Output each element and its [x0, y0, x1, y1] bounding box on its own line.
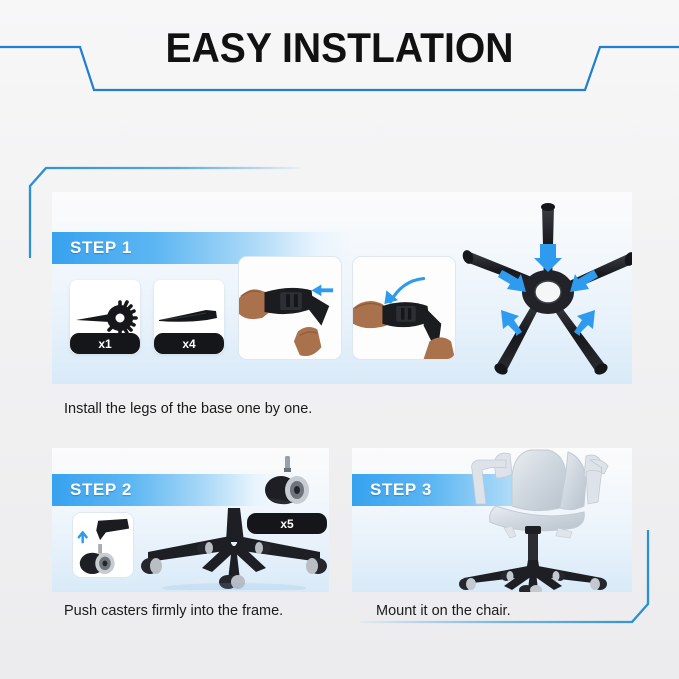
- step-card-2: STEP 2 x5: [52, 448, 329, 592]
- page-header: EASY INSTLATION: [0, 0, 679, 110]
- step-badge-label: STEP 2: [52, 480, 132, 500]
- step-badge-label: STEP 3: [352, 480, 432, 500]
- step-card-1: STEP 1 x1 x4: [52, 192, 632, 384]
- step-caption-1: Install the legs of the base one by one.: [64, 401, 312, 417]
- hand-insert-leg-image: [239, 257, 341, 359]
- hand-rotate-leg-image: [353, 257, 455, 359]
- step-caption-2: Push casters firmly into the frame.: [64, 603, 283, 619]
- five-star-base-illustration: [462, 200, 632, 378]
- step-badge-2: STEP 2: [52, 474, 282, 506]
- step-badge-label: STEP 1: [52, 238, 132, 258]
- part-count-badge: x4: [154, 333, 224, 354]
- page-title: EASY INSTLATION: [24, 24, 655, 72]
- hand-insert-leg-photo[interactable]: [238, 256, 342, 360]
- base-with-casters-illustration: [140, 506, 328, 590]
- step-card-3: STEP 3: [352, 448, 632, 592]
- part-count-badge: x1: [70, 333, 140, 354]
- hand-rotate-leg-photo[interactable]: [352, 256, 456, 360]
- caster-insert-inset[interactable]: [72, 512, 134, 578]
- part-box-base-hub[interactable]: x1: [70, 280, 140, 354]
- step-caption-3: Mount it on the chair.: [376, 603, 511, 619]
- caster-insert-image: [73, 513, 133, 577]
- part-box-base-leg[interactable]: x4: [154, 280, 224, 354]
- office-chair-ghost-illustration: [452, 448, 622, 592]
